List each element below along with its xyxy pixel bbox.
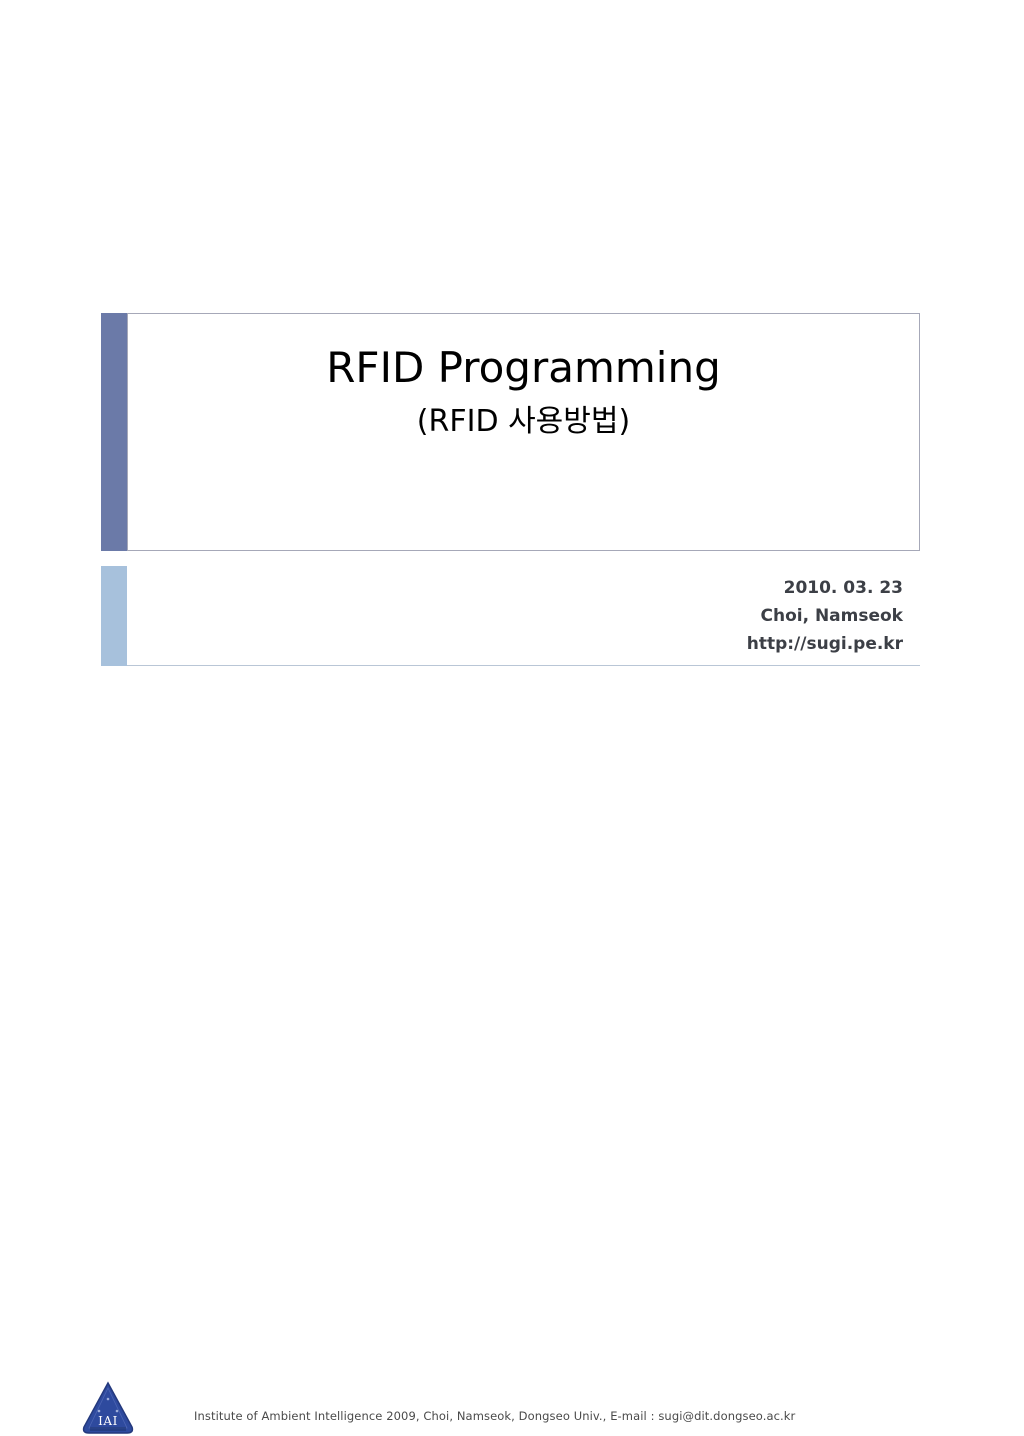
presentation-slide: RFID Programming (RFID 사용방법) 2010. 03. 2… xyxy=(0,0,1024,768)
title-block: RFID Programming (RFID 사용방법) xyxy=(101,313,920,551)
meta-accent-bar xyxy=(101,566,127,666)
meta-block: 2010. 03. 23 Choi, Namseok http://sugi.p… xyxy=(101,566,920,666)
presenter-url[interactable]: http://sugi.pe.kr xyxy=(747,630,903,658)
presentation-date: 2010. 03. 23 xyxy=(784,574,903,602)
presenter-name: Choi, Namseok xyxy=(760,602,903,630)
slide-title: RFID Programming xyxy=(326,344,721,392)
svg-text:IAI: IAI xyxy=(98,1414,118,1428)
meta-panel: 2010. 03. 23 Choi, Namseok http://sugi.p… xyxy=(127,566,920,666)
footer-credit-text: Institute of Ambient Intelligence 2009, … xyxy=(194,1409,795,1423)
slide-subtitle: (RFID 사용방법) xyxy=(417,405,630,440)
slide-footer: IAI Institute of Ambient Intelligence 20… xyxy=(0,686,1024,768)
title-accent-bar xyxy=(101,313,127,551)
title-panel: RFID Programming (RFID 사용방법) xyxy=(127,313,920,551)
iai-triangle-logo-icon: IAI xyxy=(81,1380,135,1436)
